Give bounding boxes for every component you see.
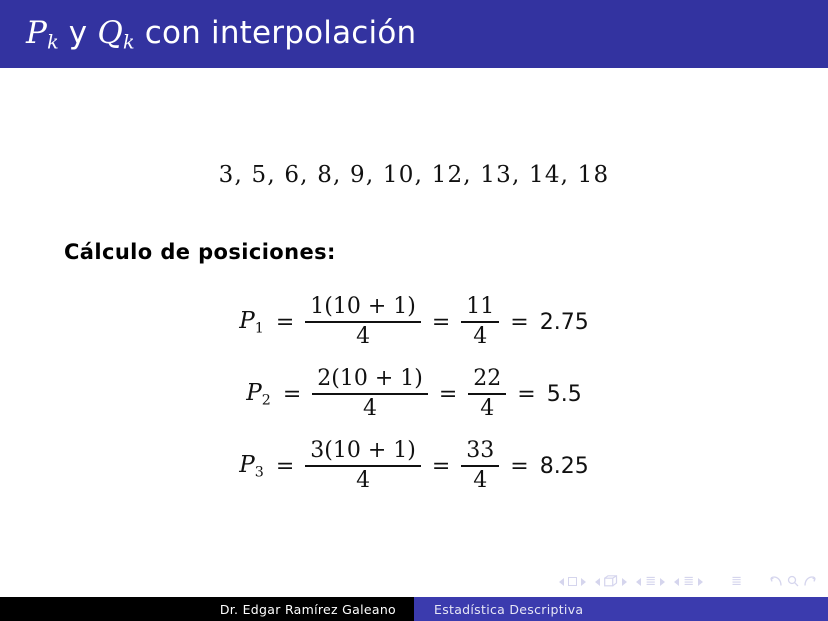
- nav-group-slide[interactable]: [559, 577, 586, 586]
- beamer-navigation-bar[interactable]: ≣ ≣ ≣: [559, 572, 816, 591]
- slide-content: 3, 5, 6, 8, 9, 10, 12, 13, 14, 18 Cálcul…: [0, 68, 828, 597]
- page-title: Pk y Qk con interpolación: [0, 15, 416, 53]
- title-var-q-subscript: k: [123, 30, 135, 53]
- equals-sign: =: [510, 454, 528, 479]
- equals-sign: =: [432, 310, 450, 335]
- nav-group-subsection[interactable]: ≣: [636, 575, 665, 588]
- fraction-denominator: 4: [351, 323, 375, 350]
- fraction-numerator: 2(10 + 1): [312, 367, 428, 394]
- previous-slide-icon[interactable]: [559, 578, 564, 586]
- next-section-icon[interactable]: [698, 578, 703, 586]
- equals-sign: =: [439, 382, 457, 407]
- equation-lhs: P1: [239, 308, 264, 336]
- title-var-p-subscript: k: [47, 30, 59, 53]
- equation-lhs-subscript: 3: [255, 464, 264, 480]
- title-conjunction: y: [69, 15, 88, 51]
- section-lines-icon[interactable]: ≣: [683, 575, 694, 588]
- search-magnifier-icon[interactable]: [787, 572, 799, 591]
- equals-sign: =: [432, 454, 450, 479]
- slide-title-bar: Pk y Qk con interpolación: [0, 0, 828, 68]
- previous-section-icon[interactable]: [674, 578, 679, 586]
- equation-lhs-subscript: 2: [262, 392, 271, 408]
- fraction-expression: 2(10 + 1) 4: [312, 367, 428, 422]
- document-lines-icon[interactable]: ≣: [731, 575, 742, 588]
- fraction-numerator: 33: [461, 439, 499, 466]
- nav-group-section[interactable]: ≣: [674, 575, 703, 588]
- fraction-numerator: 3(10 + 1): [305, 439, 421, 466]
- previous-frame-icon[interactable]: [595, 578, 600, 586]
- footer-author-section: Dr. Edgar Ramírez Galeano: [0, 597, 414, 621]
- equation-lhs-var: P: [246, 380, 261, 406]
- title-rest: con interpolación: [145, 15, 417, 51]
- equals-sign: =: [517, 382, 535, 407]
- fraction-expression: 1(10 + 1) 4: [305, 295, 421, 350]
- footer-author: Dr. Edgar Ramírez Galeano: [220, 602, 396, 617]
- next-slide-icon[interactable]: [581, 578, 586, 586]
- equation-lhs: P2: [246, 380, 271, 408]
- data-sequence: 3, 5, 6, 8, 9, 10, 12, 13, 14, 18: [0, 162, 828, 188]
- equation-row: P2 = 2(10 + 1) 4 = 22 4 = 5.5: [0, 358, 828, 430]
- next-subsection-icon[interactable]: [660, 578, 665, 586]
- equation-lhs-subscript: 1: [255, 320, 264, 336]
- nav-group-frame[interactable]: [595, 572, 627, 591]
- slide-box-icon[interactable]: [568, 577, 577, 586]
- fraction-simplified: 22 4: [468, 367, 506, 422]
- subsection-lines-icon[interactable]: ≣: [645, 575, 656, 588]
- fraction-numerator: 11: [461, 295, 499, 322]
- section-heading: Cálculo de posiciones:: [64, 240, 336, 264]
- equals-sign: =: [276, 454, 294, 479]
- equals-sign: =: [283, 382, 301, 407]
- equals-sign: =: [276, 310, 294, 335]
- next-frame-icon[interactable]: [622, 578, 627, 586]
- equals-sign: =: [510, 310, 528, 335]
- nav-group-history[interactable]: [770, 572, 816, 591]
- title-var-q: Qk: [97, 15, 134, 51]
- equation-row: P1 = 1(10 + 1) 4 = 11 4 = 2.75: [0, 286, 828, 358]
- forward-arrow-icon[interactable]: [803, 572, 816, 591]
- footer-course: Estadística Descriptiva: [434, 602, 583, 617]
- slide-footer: Dr. Edgar Ramírez Galeano Estadística De…: [0, 597, 828, 621]
- frame-stack-icon[interactable]: [604, 572, 618, 591]
- title-var-p: Pk: [26, 15, 59, 51]
- equation-lhs-var: P: [239, 308, 254, 334]
- fraction-expression: 3(10 + 1) 4: [305, 439, 421, 494]
- fraction-denominator: 4: [468, 467, 492, 494]
- fraction-denominator: 4: [468, 323, 492, 350]
- fraction-numerator: 1(10 + 1): [305, 295, 421, 322]
- equations-block: P1 = 1(10 + 1) 4 = 11 4 = 2.75 P2 = 2(10…: [0, 286, 828, 502]
- fraction-denominator: 4: [358, 395, 382, 422]
- equation-result: 2.75: [540, 310, 589, 335]
- fraction-denominator: 4: [475, 395, 499, 422]
- equation-lhs: P3: [239, 452, 264, 480]
- footer-course-section: Estadística Descriptiva: [414, 597, 828, 621]
- equation-result: 8.25: [540, 454, 589, 479]
- equation-lhs-var: P: [239, 452, 254, 478]
- fraction-simplified: 33 4: [461, 439, 499, 494]
- fraction-numerator: 22: [468, 367, 506, 394]
- back-arrow-icon[interactable]: [770, 572, 783, 591]
- fraction-simplified: 11 4: [461, 295, 499, 350]
- previous-subsection-icon[interactable]: [636, 578, 641, 586]
- equation-result: 5.5: [547, 382, 582, 407]
- title-var-p-letter: P: [26, 15, 47, 51]
- equation-row: P3 = 3(10 + 1) 4 = 33 4 = 8.25: [0, 430, 828, 502]
- fraction-denominator: 4: [351, 467, 375, 494]
- title-var-q-letter: Q: [97, 15, 123, 51]
